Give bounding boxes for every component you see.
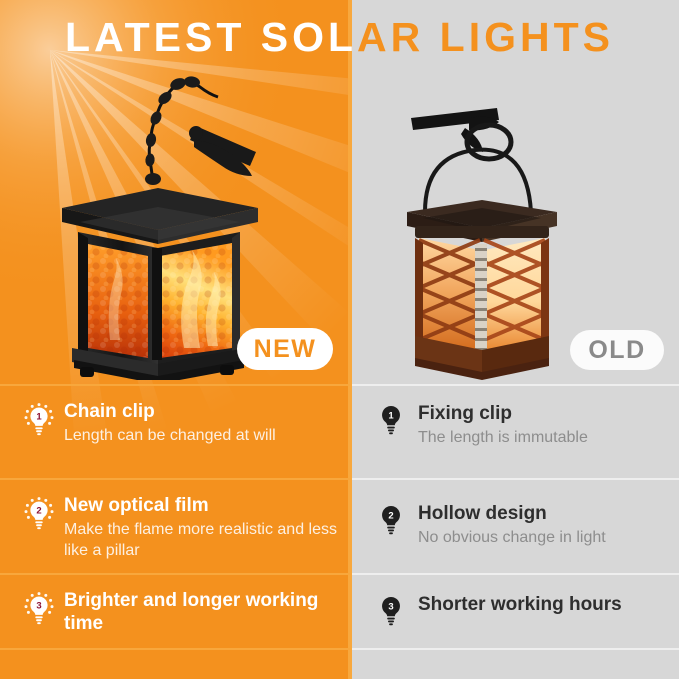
feature-item: 3 Brighter and longer working time	[0, 589, 352, 635]
old-badge: OLD	[570, 330, 664, 370]
lightbulb-icon: 1	[378, 402, 412, 448]
feature-text: New optical film Make the flame more rea…	[58, 494, 338, 561]
lightbulb-icon-old-3: 3	[378, 596, 404, 626]
feature-title: Chain clip	[64, 400, 338, 423]
page-title: LATEST SOLAR LIGHTS LATEST SOLAR LIGHTS	[0, 11, 679, 63]
new-solar-flame-lantern	[44, 62, 274, 380]
lightbulb-icon-new-2: 2	[24, 497, 54, 531]
feature-title: Brighter and longer working time	[64, 589, 338, 635]
lightbulb-icon-new-3: 3	[24, 592, 54, 626]
page-title-text-white: LATEST SOLAR LIGHTS	[0, 11, 352, 63]
new-badge-label: NEW	[254, 335, 317, 364]
row-divider	[352, 478, 679, 480]
feature-item: 2 Hollow design No obvious change in lig…	[352, 502, 679, 548]
bulb-number: 1	[36, 411, 42, 422]
lightbulb-icon: 1	[24, 400, 58, 446]
row-divider	[0, 573, 352, 575]
feature-subtitle: No obvious change in light	[418, 527, 665, 548]
feature-text: Brighter and longer working time	[58, 589, 338, 635]
page-title-left-half: LATEST SOLAR LIGHTS	[0, 11, 352, 63]
feature-title: New optical film	[64, 494, 338, 517]
row-divider	[0, 648, 352, 650]
infographic-root: NEW OLD LATEST SOLAR LIGHTS LATEST SOLAR…	[0, 0, 679, 679]
new-badge: NEW	[237, 328, 333, 370]
hero-section: NEW OLD LATEST SOLAR LIGHTS LATEST SOLAR…	[0, 0, 679, 384]
feature-title: Fixing clip	[418, 402, 665, 425]
feature-text: Shorter working hours	[412, 593, 665, 626]
old-badge-label: OLD	[588, 336, 645, 365]
comparison-section: 1 Chain clip Length can be changed at wi…	[0, 384, 679, 679]
page-title-text-orange: LATEST SOLAR LIGHTS	[352, 11, 679, 63]
bulb-number: 3	[36, 600, 41, 611]
row-divider	[352, 573, 679, 575]
feature-item: 1 Fixing clip The length is immutable	[352, 402, 679, 448]
feature-text: Fixing clip The length is immutable	[412, 402, 665, 448]
feature-title: Shorter working hours	[418, 593, 665, 616]
feature-item: 3 Shorter working hours	[352, 593, 679, 626]
old-product-feature-column: 1 Fixing clip The length is immutable 2	[352, 384, 679, 679]
lightbulb-icon-new-1: 1	[24, 403, 54, 437]
lightbulb-icon-old-2: 2	[378, 505, 404, 535]
row-divider	[0, 478, 352, 480]
lightbulb-icon: 2	[378, 502, 412, 548]
old-solar-lantern	[385, 92, 580, 382]
lightbulb-icon: 2	[24, 494, 58, 561]
bulb-number: 2	[36, 505, 41, 516]
feature-item: 2 New optical film Make the flame more r…	[0, 494, 352, 561]
new-product-feature-column: 1 Chain clip Length can be changed at wi…	[0, 384, 352, 679]
feature-title: Hollow design	[418, 502, 665, 525]
feature-text: Chain clip Length can be changed at will	[58, 400, 338, 446]
lightbulb-icon-old-1: 1	[378, 405, 404, 435]
feature-text: Hollow design No obvious change in light	[412, 502, 665, 548]
feature-subtitle: The length is immutable	[418, 427, 665, 448]
bulb-number: 3	[388, 602, 393, 613]
row-divider	[352, 648, 679, 650]
bulb-number: 1	[388, 411, 394, 422]
lightbulb-icon: 3	[378, 593, 412, 626]
feature-subtitle: Length can be changed at will	[64, 425, 338, 446]
row-divider	[0, 384, 352, 386]
row-divider	[352, 384, 679, 386]
feature-subtitle: Make the flame more realistic and less l…	[64, 519, 338, 561]
lightbulb-icon: 3	[24, 589, 58, 635]
page-title-right-half: LATEST SOLAR LIGHTS	[352, 11, 679, 63]
bulb-number: 2	[388, 511, 393, 522]
feature-item: 1 Chain clip Length can be changed at wi…	[0, 400, 352, 446]
